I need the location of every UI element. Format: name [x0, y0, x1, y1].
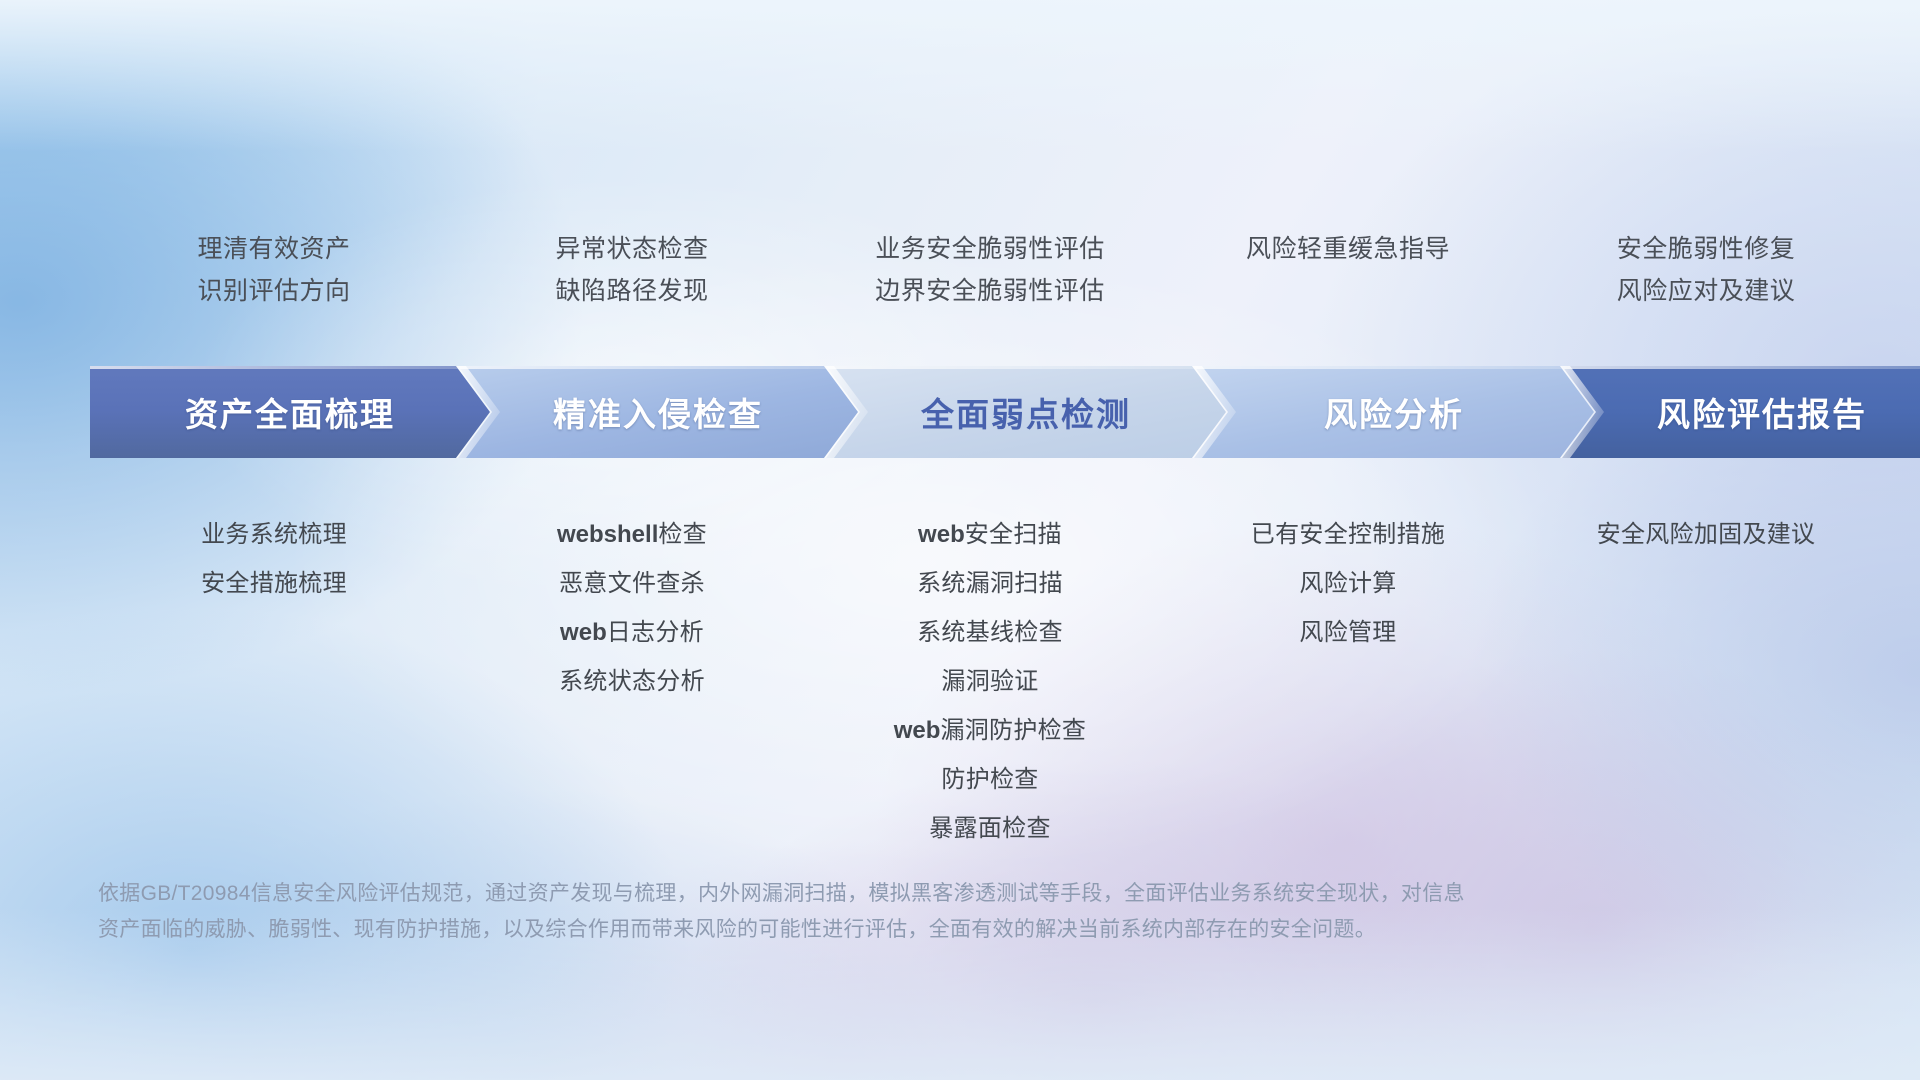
chevron-label: 风险分析	[1324, 388, 1464, 436]
detail-item: 已有安全控制措施	[1169, 510, 1527, 559]
footer-line-1: 依据GB/T20984信息安全风险评估规范，通过资产发现与梳理，内外网漏洞扫描，…	[98, 876, 1618, 912]
top-caption-line: 异常状态检查	[453, 228, 811, 270]
detail-item: web漏洞防护检查	[811, 706, 1169, 755]
chevron-step-3[interactable]: 全面弱点检测	[826, 366, 1226, 458]
top-caption-line: 风险轻重缓急指导	[1169, 228, 1527, 270]
chevron-label: 精准入侵检查	[553, 388, 763, 436]
chevron-label: 风险评估报告	[1657, 388, 1867, 436]
detail-item: 恶意文件查杀	[453, 559, 811, 608]
detail-item: 系统基线检查	[811, 608, 1169, 657]
detail-list-1: 业务系统梳理 安全措施梳理	[95, 510, 453, 853]
detail-item: 风险计算	[1169, 559, 1527, 608]
footer-description: 依据GB/T20984信息安全风险评估规范，通过资产发现与梳理，内外网漏洞扫描，…	[98, 876, 1618, 948]
chevron-step-4[interactable]: 风险分析	[1194, 366, 1594, 458]
detail-list-3: web安全扫描 系统漏洞扫描 系统基线检查 漏洞验证 web漏洞防护检查 防护检…	[811, 510, 1169, 853]
detail-item: web日志分析	[453, 608, 811, 657]
slide-canvas: 理清有效资产 识别评估方向 异常状态检查 缺陷路径发现 业务安全脆弱性评估 边界…	[0, 0, 1920, 1080]
detail-item: 系统漏洞扫描	[811, 559, 1169, 608]
detail-item: 暴露面检查	[811, 804, 1169, 853]
chevron-step-2[interactable]: 精准入侵检查	[458, 366, 858, 458]
footer-line-2: 资产面临的威胁、脆弱性、现有防护措施，以及综合作用而带来风险的可能性进行评估，全…	[98, 912, 1618, 948]
top-caption-group-2: 异常状态检查 缺陷路径发现	[453, 228, 811, 312]
chevron-label: 全面弱点检测	[921, 388, 1131, 436]
top-caption-line: 边界安全脆弱性评估	[811, 270, 1169, 312]
detail-item: 安全风险加固及建议	[1527, 510, 1885, 559]
process-chevron-band: 资产全面梳理 精准入侵检查 全面弱点检测	[90, 366, 1850, 458]
chevron-label: 资产全面梳理	[185, 388, 395, 436]
top-caption-line: 缺陷路径发现	[453, 270, 811, 312]
slide-content: 理清有效资产 识别评估方向 异常状态检查 缺陷路径发现 业务安全脆弱性评估 边界…	[0, 0, 1920, 1080]
detail-item: 安全措施梳理	[95, 559, 453, 608]
top-caption-line: 业务安全脆弱性评估	[811, 228, 1169, 270]
top-caption-group-5: 安全脆弱性修复 风险应对及建议	[1527, 228, 1885, 312]
top-caption-line: 安全脆弱性修复	[1527, 228, 1885, 270]
top-caption-group-3: 业务安全脆弱性评估 边界安全脆弱性评估	[811, 228, 1169, 312]
detail-item: 业务系统梳理	[95, 510, 453, 559]
top-captions-row: 理清有效资产 识别评估方向 异常状态检查 缺陷路径发现 业务安全脆弱性评估 边界…	[95, 228, 1885, 312]
detail-list-5: 安全风险加固及建议	[1527, 510, 1885, 853]
top-caption-line: 理清有效资产	[95, 228, 453, 270]
detail-lists-row: 业务系统梳理 安全措施梳理 webshell检查 恶意文件查杀 web日志分析 …	[95, 510, 1885, 853]
detail-item: 系统状态分析	[453, 657, 811, 706]
detail-item: webshell检查	[453, 510, 811, 559]
chevron-step-5[interactable]: 风险评估报告	[1562, 366, 1920, 458]
detail-item: 风险管理	[1169, 608, 1527, 657]
chevron-step-1[interactable]: 资产全面梳理	[90, 366, 490, 458]
detail-list-4: 已有安全控制措施 风险计算 风险管理	[1169, 510, 1527, 853]
detail-list-2: webshell检查 恶意文件查杀 web日志分析 系统状态分析	[453, 510, 811, 853]
detail-item: web安全扫描	[811, 510, 1169, 559]
detail-item: 漏洞验证	[811, 657, 1169, 706]
top-caption-group-1: 理清有效资产 识别评估方向	[95, 228, 453, 312]
top-caption-line: 识别评估方向	[95, 270, 453, 312]
detail-item: 防护检查	[811, 755, 1169, 804]
top-caption-line: 风险应对及建议	[1527, 270, 1885, 312]
top-caption-group-4: 风险轻重缓急指导	[1169, 228, 1527, 312]
